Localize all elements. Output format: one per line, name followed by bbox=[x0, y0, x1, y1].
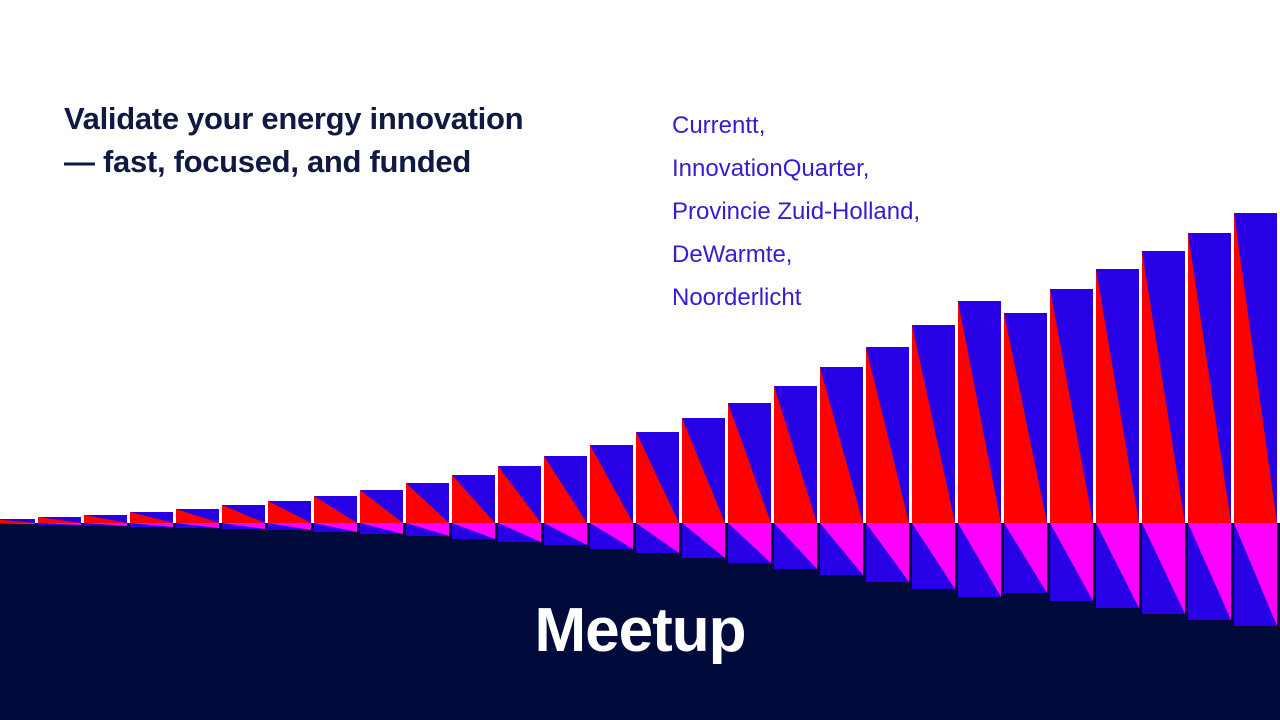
partner-list: Currentt, InnovationQuarter, Provincie Z… bbox=[672, 104, 1092, 319]
partner-item: Provincie Zuid-Holland, bbox=[672, 190, 1092, 233]
partner-item: DeWarmte, bbox=[672, 233, 1092, 276]
page-title: Validate your energy innovation — fast, … bbox=[64, 97, 644, 183]
partner-item: Currentt, bbox=[672, 104, 1092, 147]
slide-canvas: Validate your energy innovation — fast, … bbox=[0, 0, 1280, 720]
partner-item: InnovationQuarter, bbox=[672, 147, 1092, 190]
partner-item: Noorderlicht bbox=[672, 276, 1092, 319]
footer-title: Meetup bbox=[0, 594, 1280, 668]
